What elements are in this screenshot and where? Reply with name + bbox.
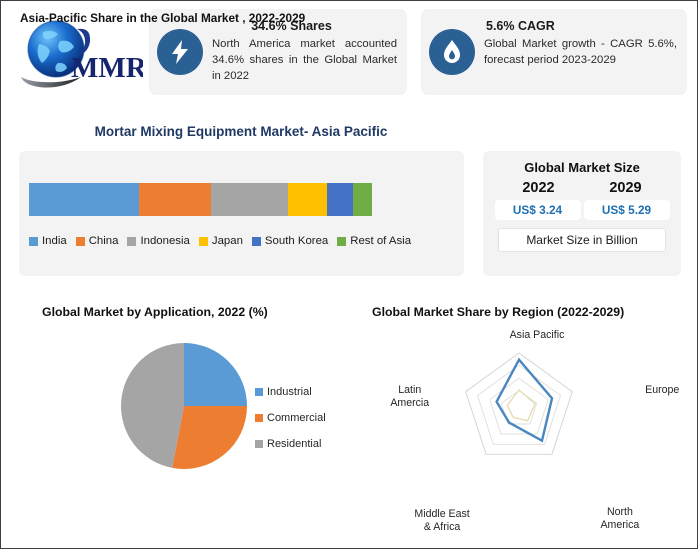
legend-swatch-icon [29,237,38,246]
asia-pacific-stacked-bar [29,183,372,216]
legend-label: South Korea [265,235,328,247]
bar-segment-india [29,183,139,216]
radar-axis-label: Middle East& Africa [406,508,478,534]
market-size-value-start: US$ 3.24 [495,200,581,220]
lightning-bolt-icon [157,29,203,75]
radar-chart-title: Global Market Share by Region (2022-2029… [372,305,624,319]
legend-swatch-icon [127,237,136,246]
region-radar-chart: Asia PacificEuropeNorthAmericaMiddle Eas… [401,331,651,486]
stat-card-cagr: 5.6% CAGR Global Market growth - CAGR 5.… [421,9,687,95]
legend-swatch-icon [76,237,85,246]
legend-label: Rest of Asia [350,235,411,247]
radar-axis-label: Europe [626,384,698,397]
legend-item: Rest of Asia [337,235,411,247]
legend-swatch-icon [337,237,346,246]
legend-item: South Korea [252,235,328,247]
pie-slice-commercial [172,406,247,469]
pie-chart-legend: IndustrialCommercialResidential [255,386,326,464]
legend-item: Japan [199,235,243,247]
radar-axis-label: LatinAmercia [374,384,446,410]
legend-label: Commercial [267,412,326,424]
page-title: Mortar Mixing Equipment Market- Asia Pac… [1,124,481,139]
legend-label: Indonesia [140,235,189,247]
legend-swatch-icon [199,237,208,246]
legend-item: Industrial [255,386,326,398]
flame-icon [429,29,475,75]
pie-chart-title: Global Market by Application, 2022 (%) [42,305,268,319]
global-market-size-title: Global Market Size [483,151,681,175]
legend-label: India [42,235,67,247]
bar-segment-south-korea [327,183,353,216]
stat-card-description: Global Market growth - CAGR 5.6%, foreca… [484,36,677,68]
logo-wordmark: MMR [71,52,143,84]
radar-series-polygon [507,390,535,421]
legend-swatch-icon [255,388,263,396]
legend-item: India [29,235,67,247]
radar-gridline [466,353,573,454]
legend-item: Indonesia [127,235,189,247]
bar-segment-rest-of-asia [353,183,372,216]
legend-label: Industrial [267,386,312,398]
global-market-size-panel: Global Market Size 2022 2029 US$ 3.24 US… [483,151,681,276]
bar-segment-japan [288,183,327,216]
legend-item: China [76,235,119,247]
infographic-page: MMR 34.6% Shares North America market ac… [0,0,698,549]
application-pie-chart [119,341,249,476]
stat-card-description: North America market accounted 34.6% sha… [212,36,397,84]
legend-swatch-icon [255,440,263,448]
market-size-year-end: 2029 [584,180,668,196]
market-size-value-end: US$ 5.29 [584,200,670,220]
bar-segment-china [139,183,211,216]
legend-item: Commercial [255,412,326,424]
legend-swatch-icon [252,237,261,246]
market-size-unit-note: Market Size in Billion [498,228,666,252]
pie-slice-industrial [184,343,247,406]
pie-slice-residential [121,343,184,468]
radar-axis-label: Asia Pacific [501,329,573,342]
asia-pacific-chart-title: Asia-Pacific Share in the Global Market … [20,11,305,25]
radar-axis-label: NorthAmerica [584,506,656,532]
bar-segment-indonesia [211,183,288,216]
legend-label: China [89,235,119,247]
legend-swatch-icon [255,414,263,422]
asia-pacific-legend: IndiaChinaIndonesiaJapanSouth KoreaRest … [29,235,411,247]
legend-label: Residential [267,438,321,450]
stat-card-title: 5.6% CAGR [484,19,677,33]
market-size-year-start: 2022 [497,180,581,196]
radar-gridline [478,365,561,444]
legend-label: Japan [212,235,243,247]
legend-item: Residential [255,438,326,450]
